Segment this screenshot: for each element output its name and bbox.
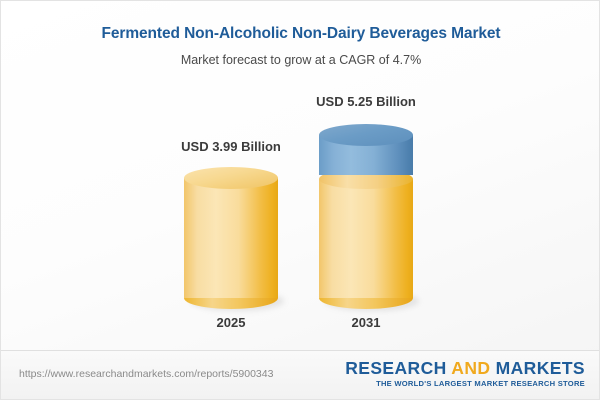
brand-logo[interactable]: RESEARCH AND MARKETS THE WORLD'S LARGEST… [345, 359, 585, 388]
bar-value-label-2031: USD 5.25 Billion [276, 94, 456, 109]
brand-name-part2: MARKETS [490, 358, 585, 378]
cylinder-body-amber [319, 179, 413, 298]
axis-label-2031: 2031 [276, 315, 456, 330]
brand-name-and: AND [451, 358, 490, 378]
cylinder-body-amber [184, 178, 278, 298]
brand-name: RESEARCH AND MARKETS [345, 359, 585, 377]
report-url-link[interactable]: https://www.researchandmarkets.com/repor… [19, 368, 273, 380]
chart-plot-area: USD 3.99 Billion 2025 USD 5.25 Billion 2… [1, 1, 600, 353]
cylinder-top-cap-amber [184, 167, 278, 189]
brand-name-part1: RESEARCH [345, 358, 451, 378]
footer-bar: https://www.researchandmarkets.com/repor… [1, 350, 600, 399]
bar-value-label-2025: USD 3.99 Billion [141, 139, 321, 154]
chart-card: Fermented Non-Alcoholic Non-Dairy Bevera… [0, 0, 600, 400]
cylinder-top-cap-blue [319, 124, 413, 146]
brand-tagline: THE WORLD'S LARGEST MARKET RESEARCH STOR… [345, 379, 585, 388]
